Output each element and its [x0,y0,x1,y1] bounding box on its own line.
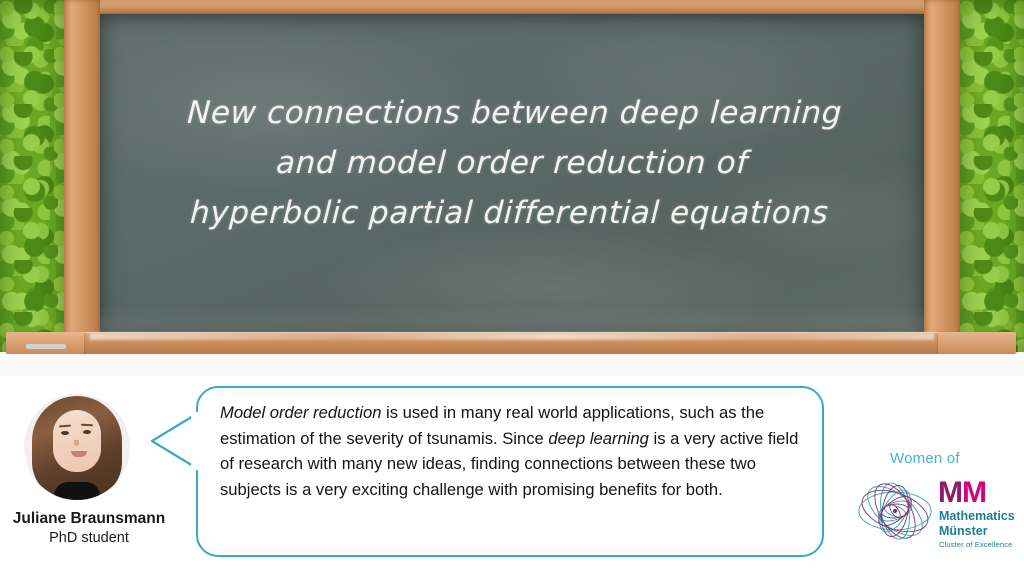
title-line-1: New connections between deep learning [101,88,928,138]
avatar-clothing [54,482,100,500]
caption-area: Juliane Braunsmann PhD student Model ord… [0,376,1024,576]
logo-mark-m1: M [938,476,962,509]
logo-mark-m2: M [962,476,986,509]
avatar-eye-left [61,431,69,435]
quote-italic-2: deep learning [548,429,649,448]
logo-mark: MM [938,478,986,508]
frame-left [64,0,100,354]
frame-right [924,0,960,354]
logo-name: Mathematics Münster [939,509,1015,538]
chalkboard-surface: New connections between deep learning an… [100,14,924,332]
avatar [24,394,130,500]
chalk-ledge [82,332,942,354]
chalkboard-scene: New connections between deep learning an… [0,0,1024,376]
chalk-piece [26,344,66,349]
avatar-nose [74,440,79,446]
spirograph-icon [852,468,938,554]
logo-name-line2: Münster [939,524,1015,539]
logo-block: Women of [852,450,1016,560]
speech-bubble-tail [145,412,199,470]
logo-tagline: Women of [890,450,960,467]
frame-top [64,0,960,14]
person-role: PhD student [0,530,178,546]
chalk-tray-left [6,332,84,354]
slide: New connections between deep learning an… [0,0,1024,576]
moss-wall-right [960,0,1024,352]
title-line-2: and model order reduction of [99,138,926,188]
quote-italic-1: Model order reduction [220,403,381,422]
logo-name-line1: Mathematics [939,509,1015,524]
wall-below-board [0,354,1024,376]
logo-subtitle: Cluster of Excellence [939,540,1012,549]
avatar-eye-right [83,430,91,434]
chalkboard-title: New connections between deep learning an… [96,88,928,238]
person-name: Juliane Braunsmann [0,510,178,528]
quote-text: Model order reduction is used in many re… [220,400,800,502]
moss-wall-left [0,0,64,352]
chalk-tray-right [938,332,1016,354]
title-line-3: hyperbolic partial differential equation… [96,188,923,238]
